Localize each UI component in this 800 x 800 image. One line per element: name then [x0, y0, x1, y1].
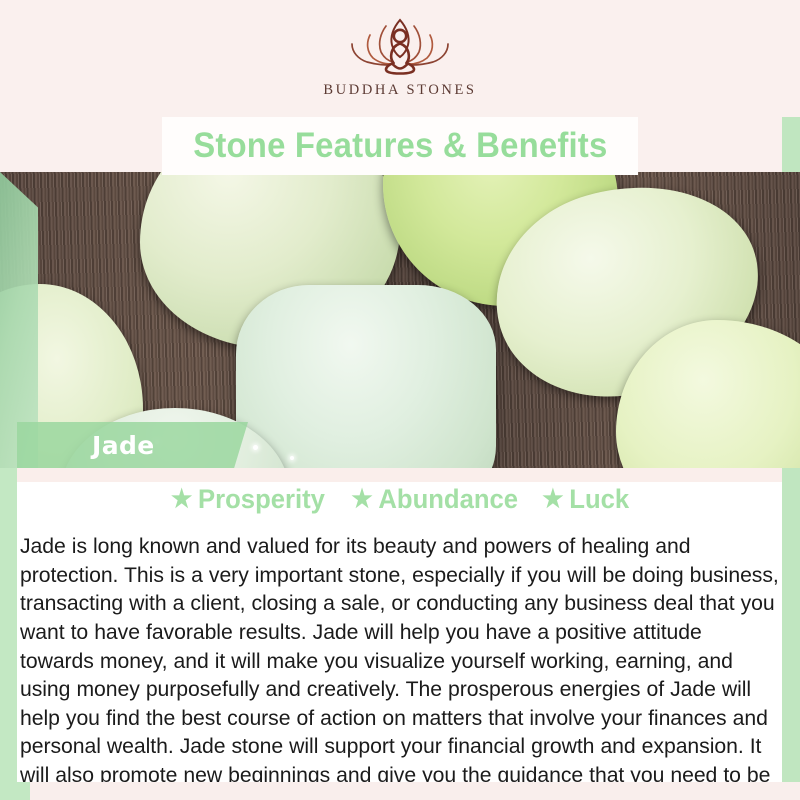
brand-logo: BUDDHA STONES: [0, 14, 800, 99]
frame-left-green-strip: [0, 468, 17, 800]
benefits-row: ★ Prosperity ★ Abundance ★ Luck: [17, 482, 782, 516]
stone-sparkle: [290, 456, 294, 460]
title-banner: Stone Features & Benefits: [162, 117, 638, 175]
star-icon: ★: [543, 487, 564, 512]
benefit-label: Prosperity: [198, 484, 325, 515]
jade-stone: [236, 285, 496, 468]
brand-name: BUDDHA STONES: [0, 82, 800, 99]
frame-bottom-left-green: [0, 782, 30, 800]
page-title: Stone Features & Benefits: [193, 126, 607, 166]
benefit-label: Luck: [570, 484, 630, 515]
benefit-item-luck: ★ Luck: [543, 484, 630, 515]
stone-description: Jade is long known and valued for its be…: [17, 533, 782, 800]
separator-strip: [17, 468, 782, 482]
benefit-item-prosperity: ★ Prosperity: [171, 484, 325, 515]
star-icon: ★: [171, 487, 192, 512]
stone-sparkle: [253, 445, 258, 450]
benefit-item-abundance: ★ Abundance: [351, 484, 518, 515]
star-icon: ★: [351, 487, 372, 512]
benefit-label: Abundance: [378, 484, 518, 515]
stone-name-label: Jade: [92, 431, 155, 460]
frame-bottom-strip: [0, 782, 800, 800]
infographic-page: BUDDHA STONES Stone Features & Benefits …: [0, 0, 800, 800]
header: BUDDHA STONES: [0, 0, 800, 117]
stone-name-badge: Jade: [17, 422, 248, 468]
lotus-meditation-logo-icon: [336, 14, 464, 76]
content-panel: ★ Prosperity ★ Abundance ★ Luck Jade is …: [17, 482, 782, 782]
